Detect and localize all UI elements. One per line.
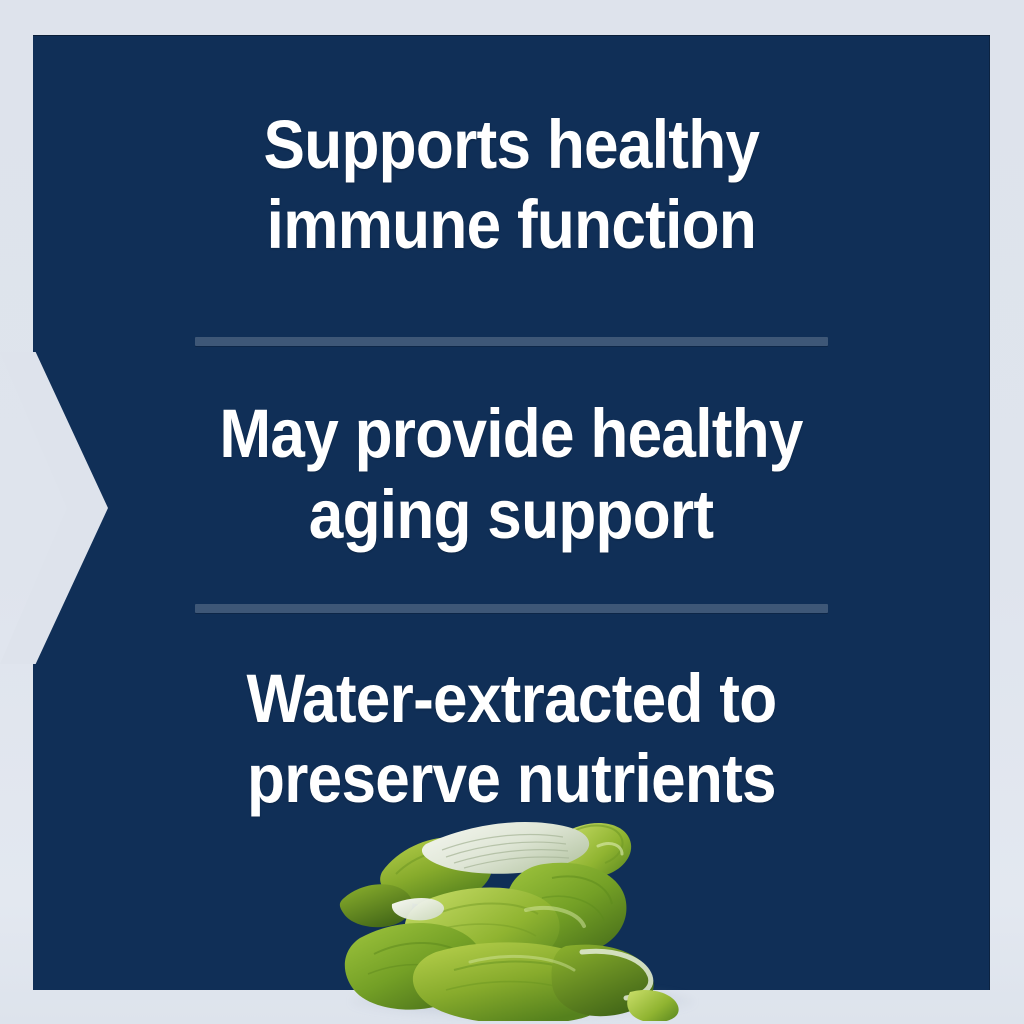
benefit-item-immune: Supports healthy immune function bbox=[33, 35, 990, 335]
infographic-stage: Supports healthy immune function May pro… bbox=[0, 0, 1024, 1024]
divider-row-2 bbox=[33, 602, 990, 614]
benefit-text-water-extracted: Water-extracted to preserve nutrients bbox=[229, 659, 795, 819]
benefit-divider-1 bbox=[195, 337, 828, 346]
benefit-item-healthy-aging: May provide healthy aging support bbox=[33, 347, 990, 602]
benefit-divider-2 bbox=[195, 604, 828, 613]
benefit-text-immune: Supports healthy immune function bbox=[246, 105, 778, 265]
divider-row-1 bbox=[33, 335, 990, 347]
leafy-greens-image bbox=[330, 806, 708, 1021]
benefit-text-healthy-aging: May provide healthy aging support bbox=[202, 394, 821, 554]
